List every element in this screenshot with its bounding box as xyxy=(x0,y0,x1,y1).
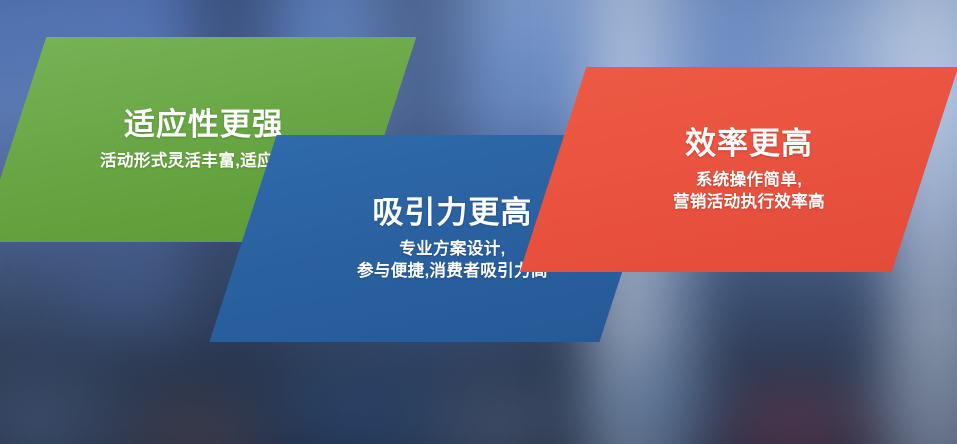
promo-banner: 适应性更强 活动形式灵活丰富,适应性强 吸引力更高 专业方案设计, 参与便捷,消… xyxy=(0,0,957,444)
feature-title-efficiency: 效率更高 xyxy=(673,128,825,161)
feature-title-attraction: 吸引力更高 xyxy=(357,197,548,230)
feature-subtitle-attraction: 专业方案设计, 参与便捷,消费者吸引力高 xyxy=(357,240,548,280)
feature-panel-attraction-content: 吸引力更高 专业方案设计, 参与便捷,消费者吸引力高 xyxy=(357,197,548,280)
feature-subtitle-efficiency: 系统操作简单, 营销活动执行效率高 xyxy=(673,171,825,211)
feature-panel-efficiency-content: 效率更高 系统操作简单, 营销活动执行效率高 xyxy=(673,128,825,211)
feature-subtitle-attraction-line-1: 专业方案设计, xyxy=(357,240,548,257)
feature-subtitle-efficiency-line-2: 营销活动执行效率高 xyxy=(673,194,825,211)
feature-panel-efficiency[interactable]: 效率更高 系统操作简单, 营销活动执行效率高 xyxy=(520,67,957,272)
feature-subtitle-efficiency-line-1: 系统操作简单, xyxy=(673,171,825,188)
